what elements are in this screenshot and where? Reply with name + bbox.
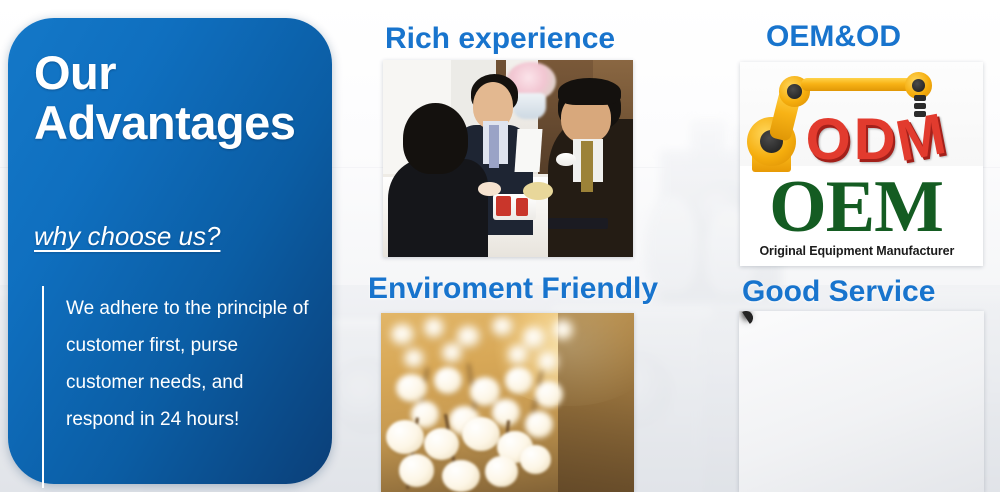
photo-environment-friendly <box>381 313 634 492</box>
panel-title: Our Advantages <box>34 48 320 148</box>
advantages-banner: Our Advantages why choose us? We adhere … <box>0 0 1000 492</box>
heading-rich-experience: Rich experience <box>385 22 615 56</box>
photo-good-service <box>739 311 984 492</box>
accent-rule <box>42 286 44 488</box>
heading-good-service: Good Service <box>742 275 935 309</box>
advantages-panel: Our Advantages why choose us? We adhere … <box>8 18 332 484</box>
odm-wordmark: ODM <box>806 111 946 169</box>
panel-title-line1: Our <box>34 46 116 99</box>
photo-rich-experience <box>383 60 633 257</box>
photo-oem-odm-logo: ODM OEM Original Equipment Manufacturer <box>740 62 983 266</box>
oem-caption: Original Equipment Manufacturer <box>759 244 954 258</box>
panel-body-text: We adhere to the principle of customer f… <box>66 290 314 438</box>
panel-title-line2: Advantages <box>34 96 295 149</box>
heading-environment-friendly: Enviroment Friendly <box>368 272 658 306</box>
oem-wordmark: OEM <box>769 170 943 244</box>
heading-oem-od: OEM&OD <box>766 20 901 54</box>
panel-subtitle: why choose us? <box>34 221 220 252</box>
